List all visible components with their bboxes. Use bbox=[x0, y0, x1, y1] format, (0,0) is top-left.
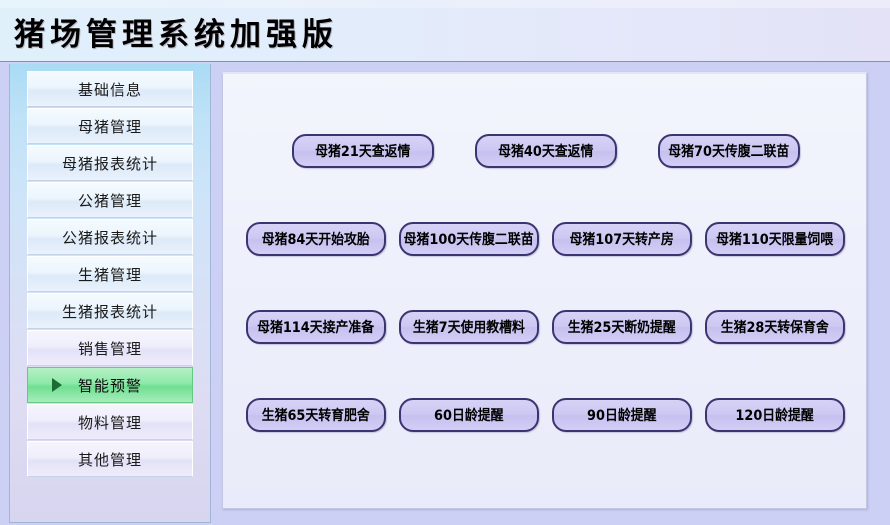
alert-button-label: 母猪100天传腹二联苗 bbox=[404, 229, 534, 249]
sidebar-item-label: 基础信息 bbox=[78, 79, 142, 100]
sidebar-item-label: 母猪报表统计 bbox=[62, 153, 158, 174]
sidebar: 基础信息母猪管理母猪报表统计公猪管理公猪报表统计生猪管理生猪报表统计销售管理智能… bbox=[9, 64, 211, 523]
sidebar-item-label: 智能预警 bbox=[78, 375, 142, 396]
alert-button-label: 母猪107天转产房 bbox=[570, 229, 674, 249]
alert-button-label: 120日龄提醒 bbox=[736, 405, 814, 425]
sidebar-item-label: 生猪报表统计 bbox=[62, 301, 158, 322]
alert-button-2-1[interactable]: 生猪7天使用教槽料 bbox=[399, 310, 539, 344]
sidebar-item-label: 销售管理 bbox=[78, 338, 142, 359]
sidebar-item-0[interactable]: 基础信息 bbox=[27, 71, 193, 107]
alert-button-label: 60日龄提醒 bbox=[434, 405, 503, 425]
sidebar-item-label: 生猪管理 bbox=[78, 264, 142, 285]
alert-button-0-0[interactable]: 母猪21天查返情 bbox=[292, 134, 434, 168]
alert-button-1-1[interactable]: 母猪100天传腹二联苗 bbox=[399, 222, 539, 256]
alert-button-label: 母猪21天查返情 bbox=[315, 141, 410, 161]
alert-button-1-0[interactable]: 母猪84天开始攻胎 bbox=[246, 222, 386, 256]
sidebar-item-6[interactable]: 生猪报表统计 bbox=[27, 293, 193, 329]
sidebar-item-5[interactable]: 生猪管理 bbox=[27, 256, 193, 292]
sidebar-item-1[interactable]: 母猪管理 bbox=[27, 108, 193, 144]
alert-button-row-3: 母猪114天接产准备生猪7天使用教槽料生猪25天断奶提醒生猪28天转保育舍 bbox=[223, 310, 868, 344]
alert-button-3-3[interactable]: 120日龄提醒 bbox=[705, 398, 845, 432]
sidebar-item-label: 其他管理 bbox=[78, 449, 142, 470]
application-window: 猪场管理系统加强版 基础信息母猪管理母猪报表统计公猪管理公猪报表统计生猪管理生猪… bbox=[0, 0, 890, 525]
alert-button-label: 母猪84天开始攻胎 bbox=[262, 229, 370, 249]
alert-button-row-2: 母猪84天开始攻胎母猪100天传腹二联苗母猪107天转产房母猪110天限量饲喂 bbox=[223, 222, 868, 256]
alert-button-label: 生猪7天使用教槽料 bbox=[413, 317, 525, 337]
title-bar: 猪场管理系统加强版 bbox=[0, 0, 890, 62]
sidebar-item-10[interactable]: 其他管理 bbox=[27, 441, 193, 477]
sidebar-item-label: 物料管理 bbox=[78, 412, 142, 433]
sidebar-nav-list: 基础信息母猪管理母猪报表统计公猪管理公猪报表统计生猪管理生猪报表统计销售管理智能… bbox=[27, 71, 193, 478]
alert-button-2-0[interactable]: 母猪114天接产准备 bbox=[246, 310, 386, 344]
alert-button-0-2[interactable]: 母猪70天传腹二联苗 bbox=[658, 134, 800, 168]
alert-button-2-3[interactable]: 生猪28天转保育舍 bbox=[705, 310, 845, 344]
content-panel: 母猪21天查返情母猪40天查返情母猪70天传腹二联苗 母猪84天开始攻胎母猪10… bbox=[222, 72, 867, 509]
page-title: 猪场管理系统加强版 bbox=[14, 9, 338, 54]
sidebar-item-2[interactable]: 母猪报表统计 bbox=[27, 145, 193, 181]
alert-button-label: 生猪28天转保育舍 bbox=[721, 317, 829, 337]
sidebar-item-4[interactable]: 公猪报表统计 bbox=[27, 219, 193, 255]
alert-button-label: 生猪65天转育肥舍 bbox=[262, 405, 370, 425]
alert-button-3-1[interactable]: 60日龄提醒 bbox=[399, 398, 539, 432]
alert-button-label: 母猪70天传腹二联苗 bbox=[668, 141, 789, 161]
alert-button-label: 生猪25天断奶提醒 bbox=[568, 317, 676, 337]
alert-button-row-1: 母猪21天查返情母猪40天查返情母猪70天传腹二联苗 bbox=[223, 134, 868, 168]
alert-button-label: 母猪40天查返情 bbox=[498, 141, 593, 161]
alert-button-2-2[interactable]: 生猪25天断奶提醒 bbox=[552, 310, 692, 344]
sidebar-item-label: 公猪报表统计 bbox=[62, 227, 158, 248]
sidebar-item-label: 公猪管理 bbox=[78, 190, 142, 211]
main-body: 基础信息母猪管理母猪报表统计公猪管理公猪报表统计生猪管理生猪报表统计销售管理智能… bbox=[0, 62, 890, 525]
alert-button-0-1[interactable]: 母猪40天查返情 bbox=[475, 134, 617, 168]
alert-button-label: 90日龄提醒 bbox=[587, 405, 656, 425]
alert-button-3-2[interactable]: 90日龄提醒 bbox=[552, 398, 692, 432]
alert-button-3-0[interactable]: 生猪65天转育肥舍 bbox=[246, 398, 386, 432]
alert-button-label: 母猪114天接产准备 bbox=[257, 317, 374, 337]
alert-button-row-4: 生猪65天转育肥舍60日龄提醒90日龄提醒120日龄提醒 bbox=[223, 398, 868, 432]
triangle-right-icon bbox=[52, 378, 62, 392]
alert-button-1-2[interactable]: 母猪107天转产房 bbox=[552, 222, 692, 256]
alert-button-label: 母猪110天限量饲喂 bbox=[716, 229, 833, 249]
sidebar-item-9[interactable]: 物料管理 bbox=[27, 404, 193, 440]
sidebar-item-7[interactable]: 销售管理 bbox=[27, 330, 193, 366]
alert-button-1-3[interactable]: 母猪110天限量饲喂 bbox=[705, 222, 845, 256]
sidebar-item-3[interactable]: 公猪管理 bbox=[27, 182, 193, 218]
sidebar-item-label: 母猪管理 bbox=[78, 116, 142, 137]
sidebar-item-8[interactable]: 智能预警 bbox=[27, 367, 193, 403]
